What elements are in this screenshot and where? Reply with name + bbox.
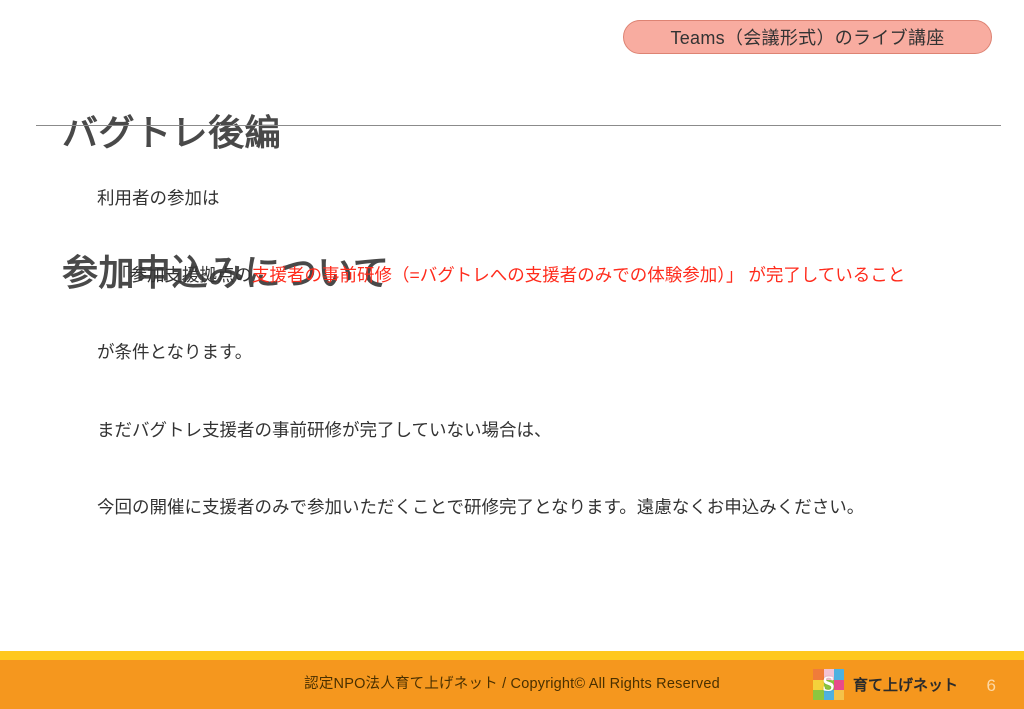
- paragraph-participation-condition: 利用者の参加は 「参加支援拠点の支援者の事前研修（=バグトレへの支援者のみでの体…: [97, 134, 1002, 573]
- condition-line-4: まだバグトレ支援者の事前研修が完了していない場合は、: [97, 418, 1002, 444]
- condition-line-5: 今回の開催に支援者のみで参加いただくことで研修完了となります。遠慮なくお申込みく…: [97, 495, 1002, 521]
- footer-brand-name: 育て上げネット: [853, 674, 958, 695]
- sodateage-net-logo-icon: S: [813, 669, 844, 700]
- condition-line-2-highlight: 支援者の事前研修（=バグトレへの支援者のみでの体験参加）」 が完了していること: [252, 265, 905, 285]
- footer-accent-stripe: [0, 651, 1024, 660]
- condition-line-2-plain: 「参加支援拠点の: [112, 265, 252, 285]
- course-format-badge-label: Teams（会議形式）のライブ講座: [670, 24, 944, 50]
- course-format-badge: Teams（会議形式）のライブ講座: [623, 20, 992, 54]
- condition-line-1: 利用者の参加は: [97, 186, 1002, 212]
- logo-letter: S: [813, 669, 844, 700]
- slide-canvas: バグトレ後編 参加申込みについて Teams（会議形式）のライブ講座 利用者の参…: [0, 0, 1024, 709]
- footer-brand: S 育て上げネット: [813, 668, 958, 700]
- slide-body: 利用者の参加は 「参加支援拠点の支援者の事前研修（=バグトレへの支援者のみでの体…: [97, 134, 1002, 709]
- condition-line-3: が条件となります。: [97, 340, 1002, 366]
- page-number: 6: [987, 676, 996, 696]
- title-divider: [36, 125, 1001, 126]
- condition-line-2: 「参加支援拠点の支援者の事前研修（=バグトレへの支援者のみでの体験参加）」 が完…: [97, 263, 1002, 289]
